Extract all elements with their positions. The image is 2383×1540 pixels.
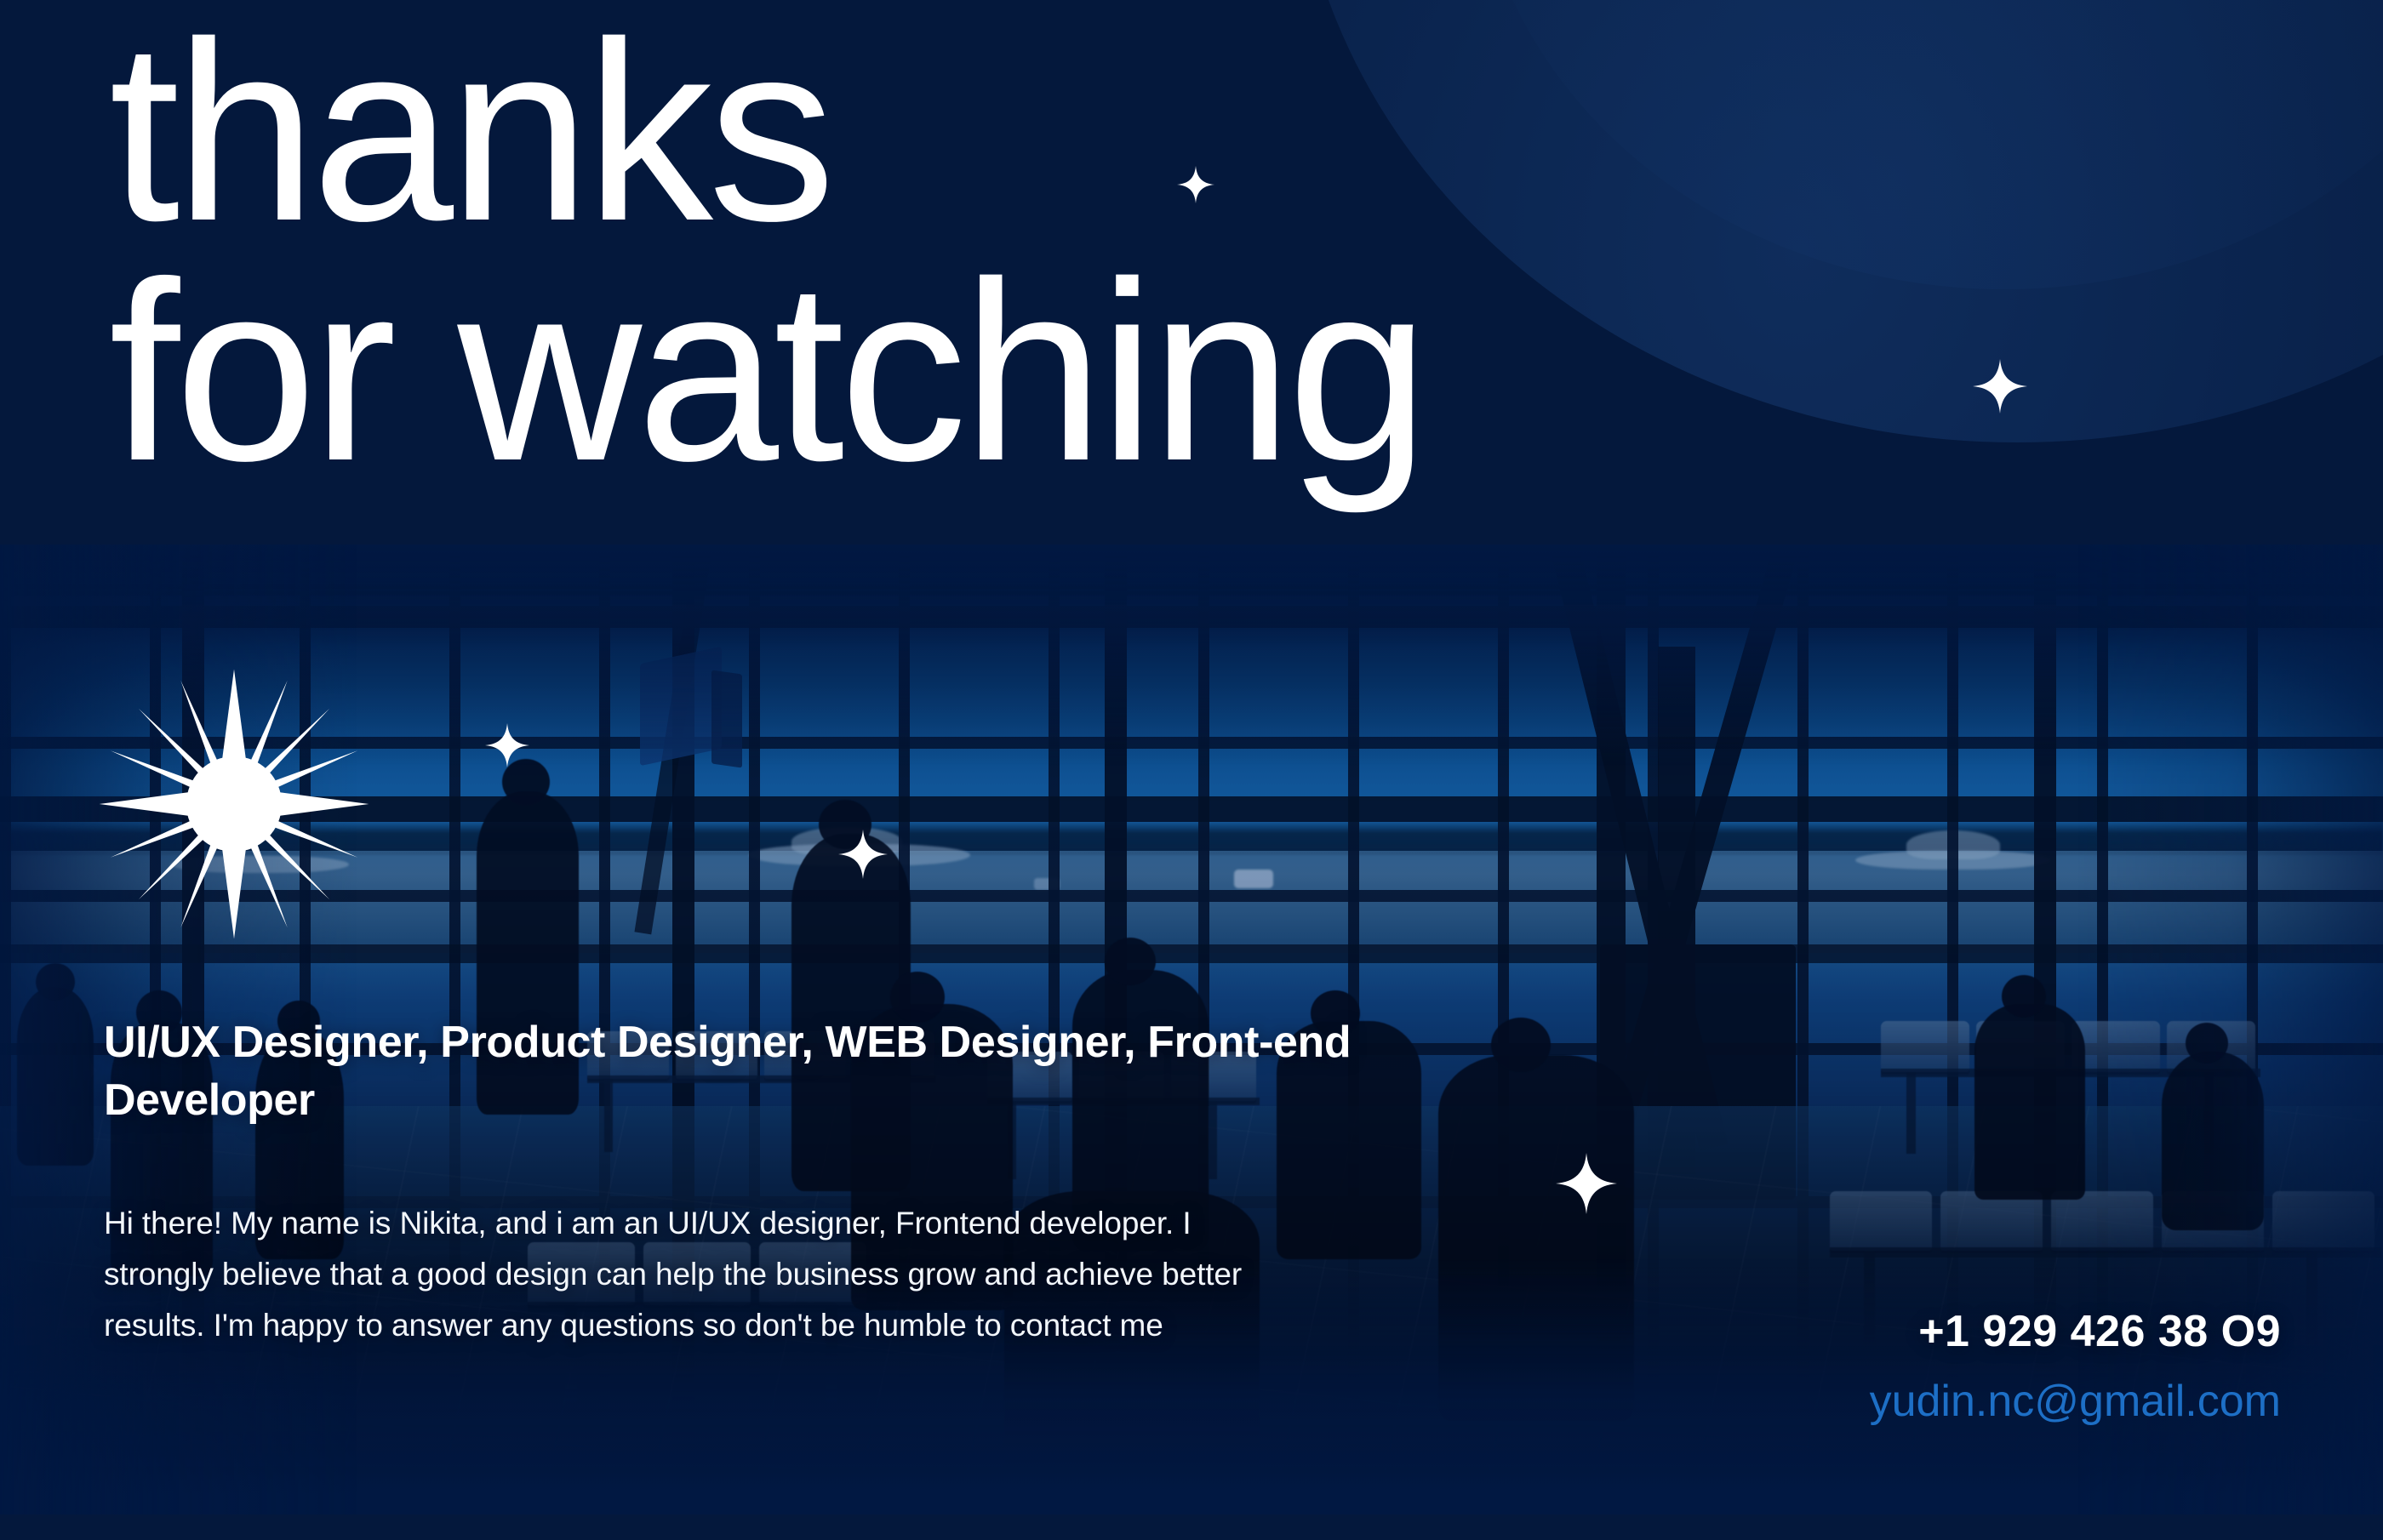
headline-line-2: for watching xyxy=(109,248,2152,493)
headline-line-1: thanks xyxy=(109,9,2152,254)
contact-block: +1 929 426 38 O9 yudin.nc@gmail.com xyxy=(1870,1306,2281,1427)
thank-you-slide: thanks for watching UI/UX Designer, Prod… xyxy=(0,0,2383,1540)
photo-fade-top xyxy=(0,545,2383,766)
email-link[interactable]: yudin.nc@gmail.com xyxy=(1870,1376,2281,1427)
role-subtitle: UI/UX Designer, Product Designer, WEB De… xyxy=(104,1014,1551,1129)
phone-number[interactable]: +1 929 426 38 O9 xyxy=(1870,1306,2281,1357)
bio-paragraph: Hi there! My name is Nikita, and i am an… xyxy=(104,1198,1253,1351)
page-title: thanks for watching xyxy=(109,9,2152,493)
